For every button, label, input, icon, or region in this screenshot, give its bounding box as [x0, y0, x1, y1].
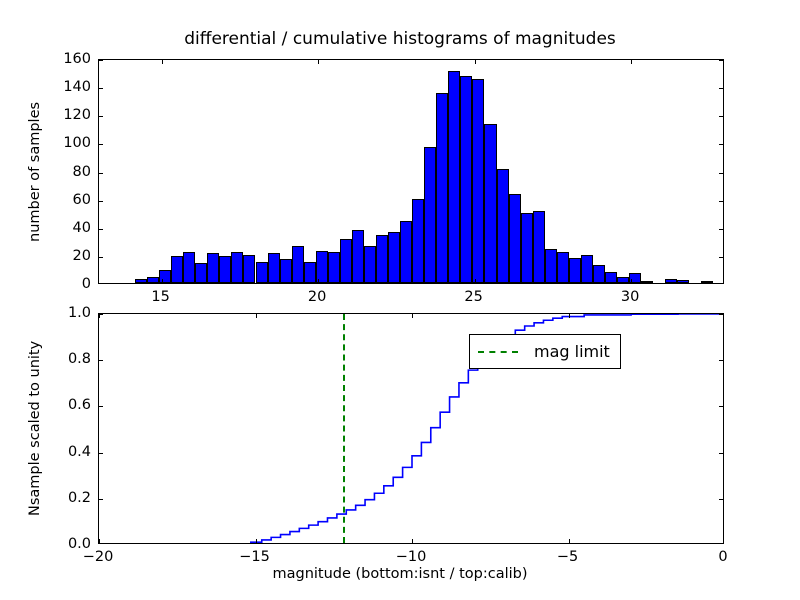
histogram-bar: [243, 255, 255, 283]
cumulative-polyline: [99, 314, 724, 544]
histogram-bar: [400, 221, 412, 283]
histogram-x-tick: [162, 60, 163, 64]
histogram-bar: [352, 230, 364, 283]
histogram-bar: [280, 259, 292, 283]
histogram-bar: [593, 265, 605, 283]
cumulative-y-tick: [99, 360, 103, 361]
histogram-y-tick: [99, 144, 103, 145]
cumulative-x-tick: [412, 539, 413, 543]
histogram-bar: [497, 169, 509, 283]
histogram-bar: [545, 249, 557, 283]
legend-dashed-line-icon: [478, 351, 518, 353]
cumulative-y-tick: [99, 499, 103, 500]
histogram-x-tick: [162, 279, 163, 283]
histogram-y-tick: [719, 201, 723, 202]
cumulative-x-tick: [569, 539, 570, 543]
histogram-bar: [617, 277, 629, 283]
histogram-bar: [388, 232, 400, 283]
legend: mag limit: [469, 334, 621, 369]
histogram-bar: [665, 279, 677, 283]
histogram-bar: [605, 272, 617, 283]
chart-title: differential / cumulative histograms of …: [0, 29, 800, 49]
figure: differential / cumulative histograms of …: [0, 0, 800, 600]
cumulative-y-tick: [719, 499, 723, 500]
cumulative-y-tick: [99, 453, 103, 454]
histogram-y-tick-label: 80: [73, 164, 91, 180]
histogram-y-tick: [99, 60, 103, 61]
cumulative-x-axis-label: magnitude (bottom:isnt / top:calib): [0, 566, 800, 582]
cumulative-y-tick-label: 0.8: [68, 351, 91, 367]
histogram-y-tick: [99, 201, 103, 202]
histogram-y-tick-label: 100: [63, 135, 91, 151]
cumulative-y-tick: [99, 406, 103, 407]
histogram-bar: [171, 256, 183, 283]
cumulative-y-tick: [719, 406, 723, 407]
histogram-bar: [436, 93, 448, 283]
histogram-y-tick: [719, 88, 723, 89]
histogram-x-tick-label: 30: [621, 289, 639, 305]
histogram-y-tick-label: 0: [82, 276, 91, 292]
histogram-bar: [460, 76, 472, 283]
histogram-y-tick: [99, 229, 103, 230]
histogram-bar: [304, 262, 316, 283]
legend-label-mag-limit: mag limit: [534, 342, 610, 361]
cumulative-curve: [99, 314, 724, 544]
histogram-y-tick: [99, 173, 103, 174]
histogram-bar: [328, 252, 340, 283]
histogram-bar: [231, 252, 243, 283]
histogram-bar: [557, 252, 569, 283]
histogram-bar: [533, 211, 545, 283]
histogram-y-tick: [719, 144, 723, 145]
cumulative-x-tick: [256, 314, 257, 318]
histogram-bar: [424, 147, 436, 283]
cumulative-y-tick-label: 1.0: [68, 305, 91, 321]
histogram-y-tick-label: 160: [63, 51, 91, 67]
histogram-bar: [147, 277, 159, 283]
histogram-y-tick-label: 40: [73, 220, 91, 236]
mag-limit-vline: [343, 314, 345, 543]
histogram-bar: [219, 256, 231, 283]
histogram-bar: [484, 124, 496, 283]
histogram-bar: [448, 71, 460, 283]
histogram-x-tick-label: 20: [308, 289, 326, 305]
cumulative-axes: mag limit: [98, 313, 724, 544]
histogram-axes: [98, 59, 724, 284]
cumulative-x-tick-label: −10: [396, 549, 427, 565]
histogram-bar: [677, 280, 689, 283]
histogram-x-tick-label: 15: [151, 289, 169, 305]
histogram-bar: [472, 79, 484, 283]
cumulative-y-tick-label: 0.2: [68, 490, 91, 506]
cumulative-x-tick-label: 0: [718, 549, 727, 565]
histogram-y-tick-label: 140: [63, 79, 91, 95]
histogram-x-tick-label: 25: [464, 289, 482, 305]
histogram-bar: [412, 199, 424, 283]
histogram-y-tick: [719, 229, 723, 230]
cumulative-y-tick: [719, 360, 723, 361]
cumulative-x-tick: [412, 314, 413, 318]
cumulative-y-tick: [719, 314, 723, 315]
histogram-y-tick: [99, 116, 103, 117]
histogram-bar: [641, 281, 653, 283]
histogram-bar: [340, 239, 352, 283]
cumulative-x-tick: [256, 539, 257, 543]
cumulative-x-tick: [569, 314, 570, 318]
histogram-bar: [183, 252, 195, 283]
histogram-bar: [195, 263, 207, 283]
histogram-y-tick: [99, 257, 103, 258]
histogram-x-tick: [631, 60, 632, 64]
cumulative-y-tick: [719, 453, 723, 454]
histogram-x-tick: [475, 60, 476, 64]
histogram-y-tick-label: 20: [73, 248, 91, 264]
histogram-bar: [509, 194, 521, 283]
histogram-y-tick: [719, 116, 723, 117]
histogram-y-tick: [719, 257, 723, 258]
histogram-bar: [701, 281, 713, 283]
cumulative-x-tick-label: −5: [557, 549, 578, 565]
cumulative-y-tick-label: 0.6: [68, 397, 91, 413]
histogram-bar: [207, 253, 219, 283]
histogram-x-tick: [318, 60, 319, 64]
histogram-bar: [364, 246, 376, 283]
histogram-bar: [268, 253, 280, 283]
histogram-y-tick-label: 120: [63, 107, 91, 123]
histogram-y-tick: [719, 60, 723, 61]
histogram-bar: [521, 213, 533, 283]
cumulative-y-axis-label: Nsample scaled to unity: [27, 341, 43, 516]
cumulative-y-tick-label: 0.4: [68, 444, 91, 460]
histogram-bar: [569, 258, 581, 283]
histogram-bar: [581, 255, 593, 283]
histogram-bar: [256, 262, 268, 283]
cumulative-y-tick: [99, 314, 103, 315]
cumulative-x-tick-label: −20: [83, 549, 114, 565]
histogram-x-tick: [318, 279, 319, 283]
histogram-bar: [135, 279, 147, 283]
histogram-x-tick: [631, 279, 632, 283]
histogram-y-axis-label: number of samples: [27, 101, 43, 241]
histogram-bar: [292, 246, 304, 283]
histogram-x-tick: [475, 279, 476, 283]
histogram-y-tick: [719, 173, 723, 174]
histogram-bar: [376, 235, 388, 283]
histogram-y-tick: [99, 88, 103, 89]
histogram-y-tick-label: 60: [73, 192, 91, 208]
cumulative-x-tick: [99, 539, 100, 543]
cumulative-x-tick-label: −15: [239, 549, 270, 565]
